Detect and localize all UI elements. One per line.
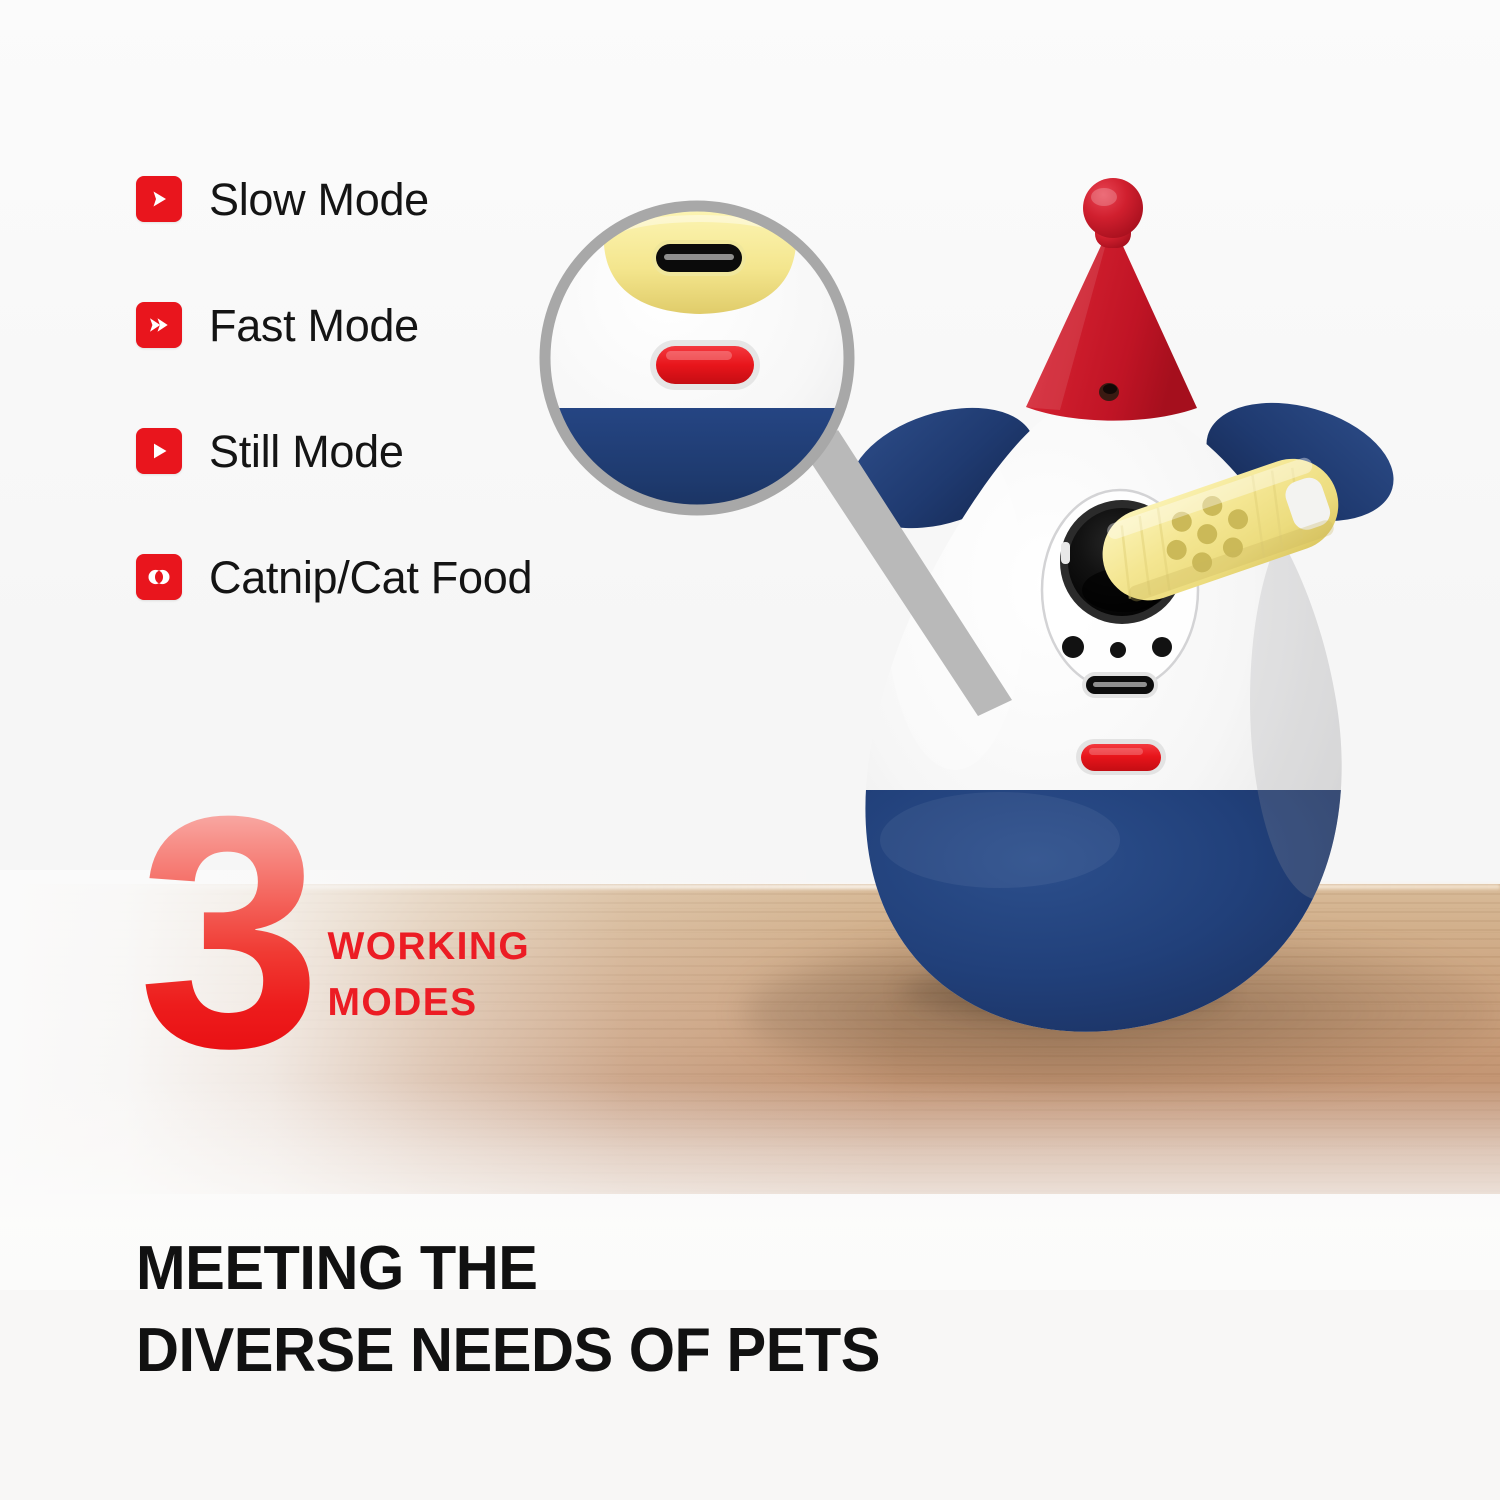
two-circles-icon: [136, 554, 182, 600]
magnifier-handle: [806, 430, 1012, 716]
stat-caption-line1: WORKING: [328, 925, 531, 968]
feature-item-slow-mode[interactable]: Slow Mode: [136, 168, 656, 230]
play-solid-icon: [136, 428, 182, 474]
feature-item-catnip-cat-food[interactable]: Catnip/Cat Food: [136, 546, 656, 608]
feature-label-slow-mode: Slow Mode: [209, 177, 429, 222]
page-headline: MEETING THE DIVERSE NEEDS OF PETS: [136, 1228, 880, 1392]
fast-forward-icon: [136, 302, 182, 348]
stat-caption-line2: MODES: [328, 981, 478, 1024]
feature-item-still-mode[interactable]: Still Mode: [136, 420, 656, 482]
feature-label-catnip-cat-food: Catnip/Cat Food: [209, 555, 532, 600]
lens-button-gloss: [666, 351, 732, 360]
feature-item-fast-mode[interactable]: Fast Mode: [136, 294, 656, 356]
feature-label-still-mode: Still Mode: [209, 429, 404, 474]
product-marketing-image: Slow Mode Fast Mode Still Mode: [0, 0, 1500, 1500]
play-single-icon: [136, 176, 182, 222]
feature-label-fast-mode: Fast Mode: [209, 303, 419, 348]
lens-usb-c-tongue: [664, 254, 734, 260]
working-modes-stat: 3 WORKING MODES: [138, 800, 530, 1064]
headline-line-1: MEETING THE: [136, 1228, 880, 1310]
headline-line-2: DIVERSE NEEDS OF PETS: [136, 1310, 880, 1392]
stat-number: 3: [138, 800, 312, 1064]
feature-list: Slow Mode Fast Mode Still Mode: [136, 168, 656, 608]
stat-caption: WORKING MODES: [328, 919, 531, 1030]
